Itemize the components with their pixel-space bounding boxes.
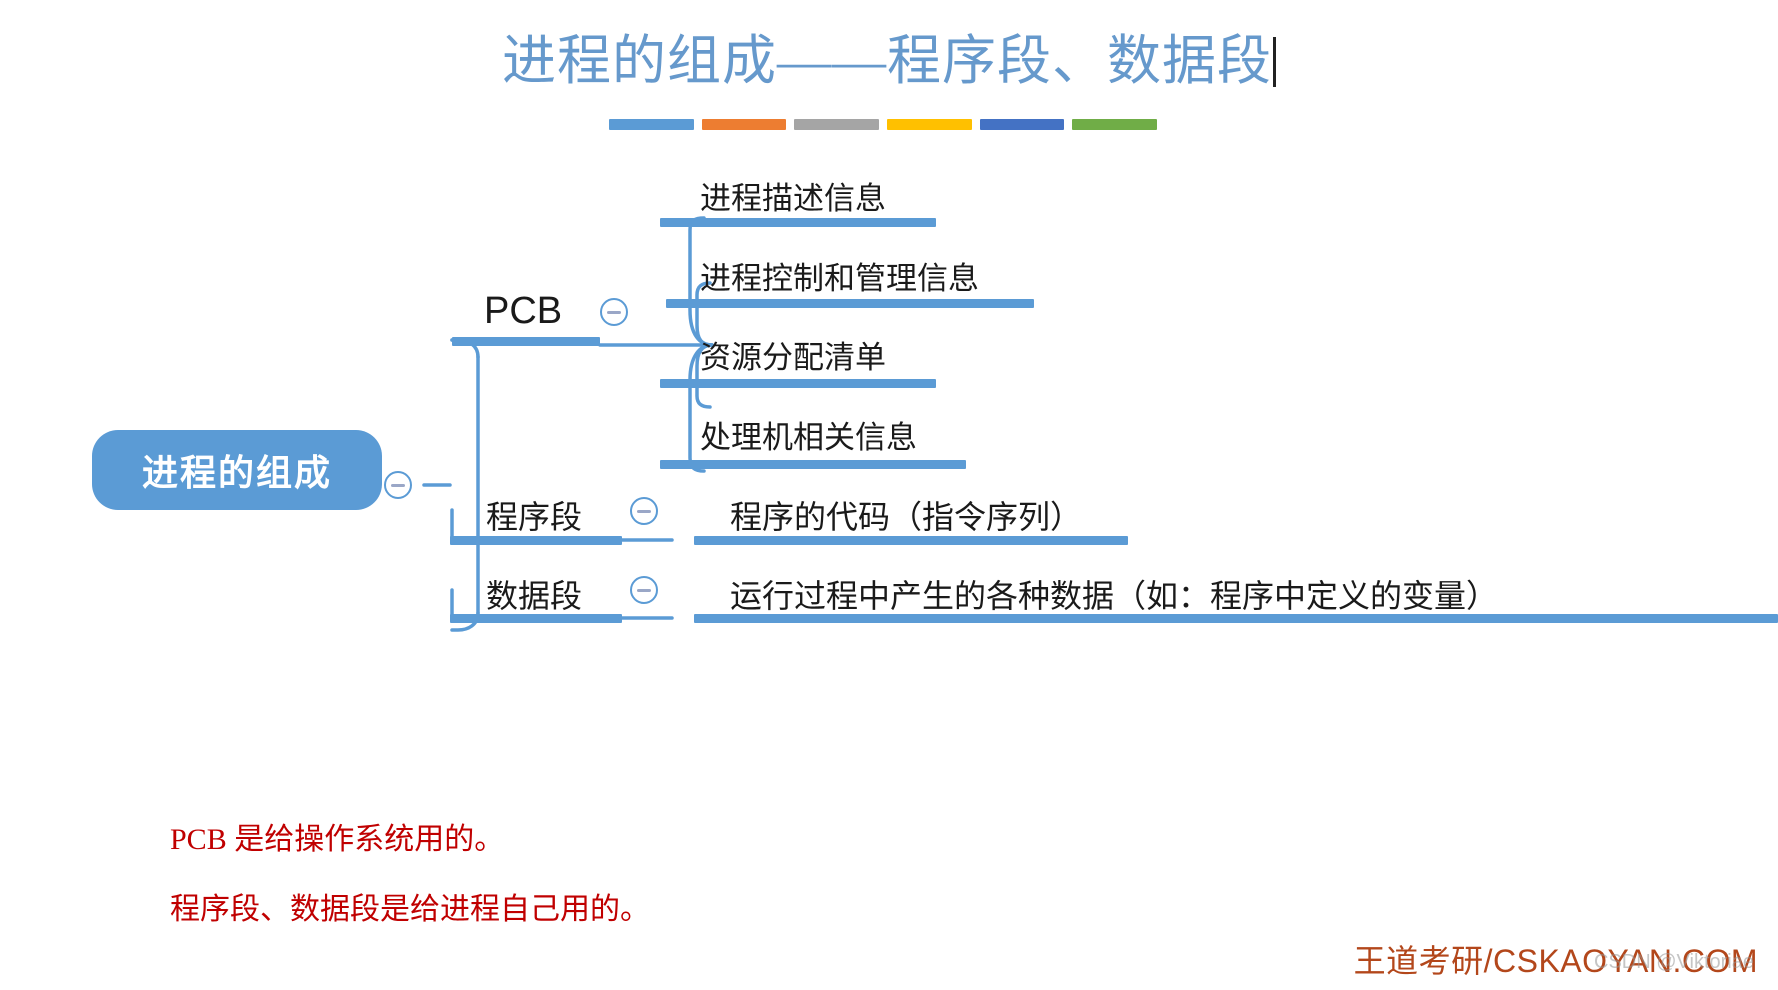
mindmap-node-pcb-child-3-underline xyxy=(660,460,966,469)
mindmap-root-label: 进程的组成 xyxy=(142,444,332,496)
mindmap-node-pcb-underline xyxy=(452,337,600,346)
data-segment-collapse-toggle-icon[interactable] xyxy=(630,576,658,604)
pcb-collapse-toggle-icon[interactable] xyxy=(600,298,628,326)
accent-bar-gray xyxy=(794,119,879,130)
mindmap-node-data-segment-label[interactable]: 数据段 xyxy=(486,571,582,617)
mindmap-node-pcb-child-2-label[interactable]: 资源分配清单 xyxy=(700,332,886,377)
root-collapse-toggle-icon[interactable] xyxy=(384,471,412,499)
note-line-2: 程序段、数据段是给进程自己用的。 xyxy=(170,884,650,928)
text-caret xyxy=(1273,37,1276,87)
mindmap-node-pcb-child-3-label[interactable]: 处理机相关信息 xyxy=(700,412,917,457)
mindmap-root-node[interactable]: 进程的组成 xyxy=(92,430,382,510)
title-accent-bars xyxy=(609,119,1157,130)
mindmap-node-pcb-child-1-label[interactable]: 进程控制和管理信息 xyxy=(700,253,979,298)
mindmap: 进程的组成 PCB 进程描述信息 进程控制和管理信息 资源分配清单 处理机相关信… xyxy=(0,140,1778,700)
mindmap-node-data-segment-underline xyxy=(450,614,622,623)
mindmap-node-data-segment-child-0-underline xyxy=(694,614,1778,623)
mindmap-node-program-segment-child-0-underline xyxy=(694,536,1128,545)
mindmap-node-pcb-child-0-label[interactable]: 进程描述信息 xyxy=(700,173,886,218)
accent-bar-green xyxy=(1072,119,1157,130)
mindmap-node-data-segment-child-0-label[interactable]: 运行过程中产生的各种数据（如：程序中定义的变量） xyxy=(730,571,1498,617)
note-line-1: PCB 是给操作系统用的。 xyxy=(170,814,504,858)
mindmap-node-pcb-label[interactable]: PCB xyxy=(484,290,562,333)
watermark-csdn: CSDN @Viktoriae xyxy=(1594,951,1754,974)
mindmap-node-program-segment-label[interactable]: 程序段 xyxy=(486,492,582,538)
program-segment-collapse-toggle-icon[interactable] xyxy=(630,497,658,525)
accent-bar-blue xyxy=(609,119,694,130)
slide-canvas: 进程的组成——程序段、数据段 xyxy=(0,0,1778,990)
mindmap-node-pcb-child-1-underline xyxy=(666,299,1034,308)
accent-bar-yellow xyxy=(887,119,972,130)
accent-bar-orange xyxy=(702,119,787,130)
page-title: 进程的组成——程序段、数据段 xyxy=(502,30,1272,92)
mindmap-node-program-segment-child-0-label[interactable]: 程序的代码（指令序列） xyxy=(730,492,1082,538)
mindmap-node-pcb-child-2-underline xyxy=(660,379,936,388)
mindmap-node-pcb-child-0-underline xyxy=(660,218,936,227)
accent-bar-indigo xyxy=(980,119,1065,130)
mindmap-node-program-segment-underline xyxy=(450,536,622,545)
title-block: 进程的组成——程序段、数据段 xyxy=(0,30,1778,92)
